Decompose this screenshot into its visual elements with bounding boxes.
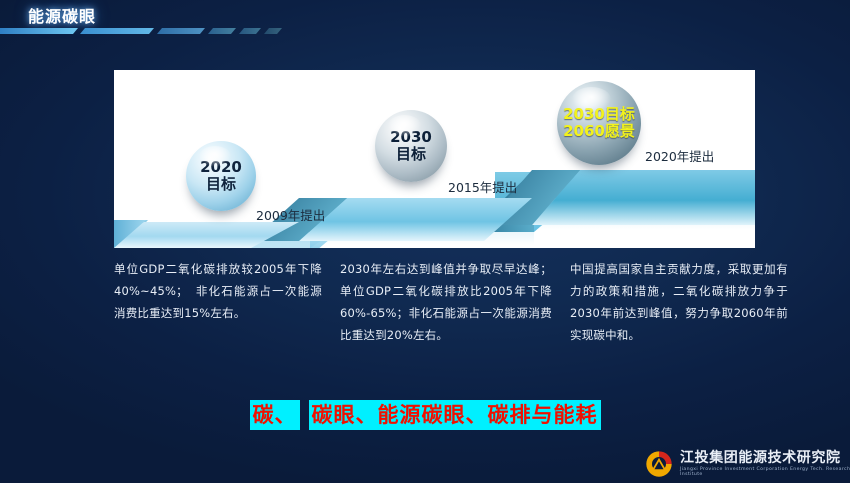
sphere-1-line1: 2020 bbox=[200, 159, 242, 176]
logo-name-en: Jiangxi Province Investment Corporation … bbox=[680, 468, 850, 477]
accent-segment-6 bbox=[264, 28, 282, 34]
company-logo-icon bbox=[645, 450, 673, 478]
headline-chunk-2: 碳眼、能源碳眼、碳排与能耗 bbox=[309, 400, 601, 430]
description-row: 单位GDP二氧化碳排放较2005年下降40%~45%； 非化石能源占一次能源消费… bbox=[114, 258, 794, 346]
bottom-headline: 碳、碳眼、能源碳眼、碳排与能耗 bbox=[0, 400, 850, 430]
sphere-3-line1: 2030目标 bbox=[563, 106, 635, 123]
description-column-1: 单位GDP二氧化碳排放较2005年下降40%~45%； 非化石能源占一次能源消费… bbox=[114, 258, 322, 346]
logo-text-block: 江投集团能源技术研究院 Jiangxi Province Investment … bbox=[680, 451, 850, 477]
logo-name-cn: 江投集团能源技术研究院 bbox=[680, 451, 850, 465]
accent-segment-3 bbox=[157, 28, 205, 34]
description-column-3: 中国提高国家自主贡献力度，采取更加有力的政策和措施，二氧化碳排放力争于2030年… bbox=[570, 258, 788, 346]
accent-segment-1 bbox=[0, 28, 78, 34]
step-label-2: 2015年提出 bbox=[448, 177, 517, 196]
accent-segment-2 bbox=[80, 28, 154, 34]
sphere-2-line2: 目标 bbox=[396, 146, 426, 163]
footer-logo: 江投集团能源技术研究院 Jiangxi Province Investment … bbox=[645, 450, 850, 478]
accent-segment-4 bbox=[208, 28, 236, 34]
description-column-2: 2030年左右达到峰值并争取尽早达峰；单位GDP二氧化碳排放比2005年下降60… bbox=[340, 258, 552, 346]
accent-segment-5 bbox=[239, 28, 261, 34]
milestone-sphere-2020[interactable]: 2020 目标 bbox=[186, 141, 256, 211]
step-label-1: 2009年提出 bbox=[256, 205, 325, 224]
page-title: 能源碳眼 bbox=[28, 3, 96, 27]
slide-canvas: 能源碳眼 bbox=[0, 0, 850, 483]
sphere-2-line1: 2030 bbox=[390, 129, 432, 146]
sphere-3-line2: 2060愿景 bbox=[563, 123, 635, 140]
sphere-1-line2: 目标 bbox=[206, 176, 236, 193]
headline-chunk-1: 碳、 bbox=[250, 400, 300, 430]
milestone-sphere-2060[interactable]: 2030目标 2060愿景 bbox=[557, 81, 641, 165]
milestone-sphere-2030[interactable]: 2030 目标 bbox=[375, 110, 447, 182]
slide-header: 能源碳眼 bbox=[0, 0, 850, 40]
step-label-3: 2020年提出 bbox=[645, 146, 714, 165]
